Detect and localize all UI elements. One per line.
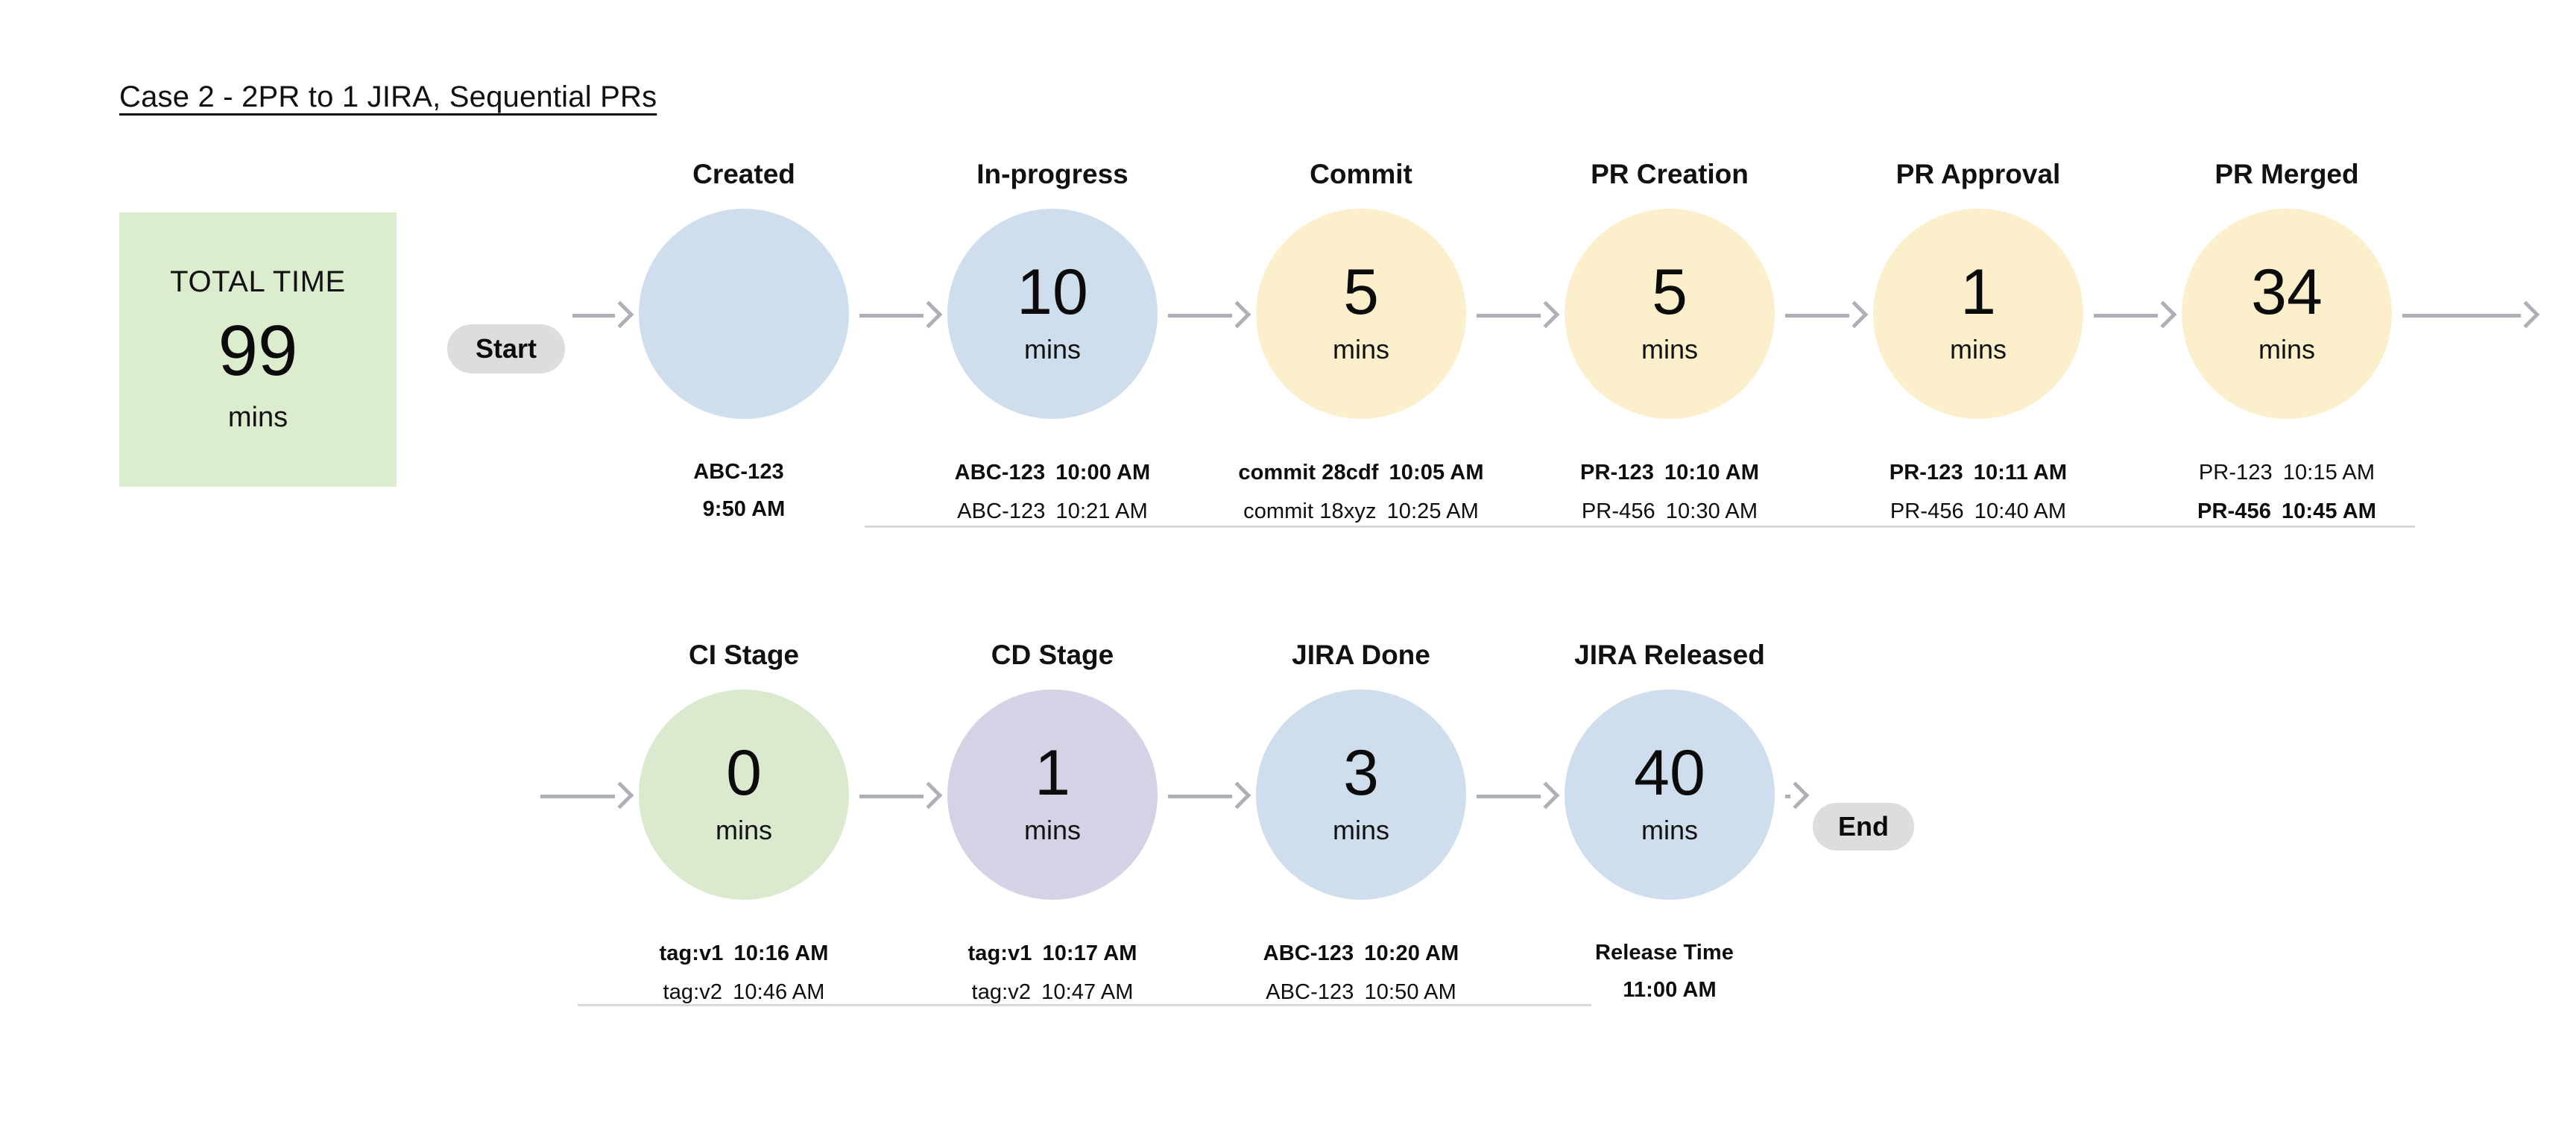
node-in-progress-entry-1-ref: ABC-123	[955, 461, 1046, 485]
node-ci-stage-entry-2-time: 10:46 AM	[733, 980, 824, 1004]
node-cd-stage-entry-1-time: 10:17 AM	[1042, 941, 1137, 965]
node-created-entry-2-time: 9:50 AM	[703, 497, 786, 521]
node-in-progress-entry-2-ref: ABC-123	[957, 499, 1045, 523]
node-ci-stage[interactable]: CI Stage0minstag:v110:16 AMtag:v210:46 A…	[587, 637, 900, 1012]
node-in-progress-entries: ABC-12310:00 AMABC-12310:21 AM	[896, 453, 1209, 531]
node-jira-done-entry-1-time: 10:20 AM	[1364, 941, 1459, 965]
node-commit-entry-1-time: 10:05 AM	[1389, 461, 1484, 485]
node-commit-entry-2-ref: commit 18xyz	[1243, 499, 1376, 523]
node-jira-released[interactable]: JIRA Released40minsRelease Time11:00 AM	[1513, 637, 1826, 1009]
node-ci-stage-entries: tag:v110:16 AMtag:v210:46 AM	[587, 934, 900, 1012]
node-jira-released-unit: mins	[1641, 815, 1698, 846]
node-jira-done-title: JIRA Done	[1292, 637, 1430, 673]
node-pr-approval-entry-1-time: 10:11 AM	[1974, 461, 2067, 485]
node-created-entry-2: 9:50 AM	[703, 490, 786, 528]
connector-3-line	[1477, 795, 1541, 798]
node-pr-approval-circle[interactable]: 1mins	[1873, 209, 2083, 419]
node-cd-stage-entry-1-ref: tag:v1	[967, 941, 1032, 965]
node-pr-merged-unit: mins	[2258, 334, 2315, 365]
node-jira-done-entry-1: ABC-12310:20 AM	[1263, 934, 1459, 973]
connector-4-line	[1785, 314, 1849, 318]
node-ci-stage-value: 0	[726, 743, 762, 804]
connector-row-begin-line	[540, 795, 615, 798]
node-pr-merged[interactable]: PR Merged34minsPR-12310:15 AMPR-45610:45…	[2130, 157, 2443, 531]
connector-3-line	[1477, 314, 1541, 318]
node-cd-stage-value: 1	[1035, 743, 1070, 804]
node-pr-merged-entry-2-time: 10:45 AM	[2282, 499, 2376, 523]
node-pr-creation-entry-2-ref: PR-456	[1582, 499, 1655, 523]
node-commit[interactable]: Commit5minscommit 28cdf10:05 AMcommit 18…	[1205, 157, 1518, 531]
node-pr-creation-entry-2-time: 10:30 AM	[1666, 499, 1758, 523]
total-time-unit: mins	[228, 402, 288, 434]
node-pr-merged-value: 34	[2251, 262, 2323, 324]
total-time-card: TOTAL TIME 99 mins	[119, 212, 397, 487]
node-jira-done[interactable]: JIRA Done3minsABC-12310:20 AMABC-12310:5…	[1205, 637, 1518, 1012]
node-pr-creation-unit: mins	[1641, 334, 1698, 365]
node-pr-approval-value: 1	[1960, 262, 1996, 324]
connector-5-line	[2094, 314, 2158, 318]
node-pr-approval-entry-2: PR-45610:40 AM	[1890, 492, 2066, 531]
node-ci-stage-title: CI Stage	[689, 637, 799, 673]
node-in-progress-entry-1-time: 10:00 AM	[1055, 461, 1150, 485]
node-cd-stage-entry-2-ref: tag:v2	[972, 980, 1032, 1004]
node-pr-creation-entry-1: PR-12310:10 AM	[1580, 453, 1759, 492]
node-jira-released-entries: Release Time11:00 AM	[1513, 934, 1826, 1009]
node-pr-merged-entry-2: PR-45610:45 AM	[2197, 492, 2376, 531]
node-pr-approval-title: PR Approval	[1896, 157, 2061, 192]
node-in-progress-value: 10	[1017, 262, 1088, 324]
node-commit-circle[interactable]: 5mins	[1256, 209, 1466, 419]
node-created-entry-1: ABC-123	[693, 453, 795, 490]
node-ci-stage-entry-1-time: 10:16 AM	[733, 941, 828, 965]
node-cd-stage-title: CD Stage	[991, 637, 1114, 673]
node-cd-stage-entry-1: tag:v110:17 AM	[967, 934, 1137, 973]
node-pr-merged-circle[interactable]: 34mins	[2182, 209, 2392, 419]
total-time-value: 99	[218, 314, 298, 389]
node-cd-stage-entry-2-time: 10:47 AM	[1041, 980, 1133, 1004]
node-pr-approval-unit: mins	[1950, 334, 2007, 365]
node-pr-creation-entries: PR-12310:10 AMPR-45610:30 AM	[1513, 453, 1826, 531]
node-jira-done-entry-2: ABC-12310:50 AM	[1266, 973, 1456, 1012]
node-created-circle[interactable]	[639, 209, 849, 419]
diagram-canvas: Case 2 - 2PR to 1 JIRA, Sequential PRs T…	[0, 0, 2576, 1139]
end-marker[interactable]: End	[1813, 803, 1914, 851]
node-cd-stage[interactable]: CD Stage1minstag:v110:17 AMtag:v210:47 A…	[896, 637, 1209, 1012]
node-jira-released-circle[interactable]: 40mins	[1565, 690, 1775, 900]
node-cd-stage-entries: tag:v110:17 AMtag:v210:47 AM	[896, 934, 1209, 1012]
node-jira-done-entries: ABC-12310:20 AMABC-12310:50 AM	[1205, 934, 1518, 1012]
connector-1-line	[859, 795, 924, 798]
node-jira-done-entry-2-time: 10:50 AM	[1365, 980, 1456, 1004]
node-pr-merged-entry-1-ref: PR-123	[2199, 461, 2273, 485]
node-created-entries: ABC-1239:50 AM	[587, 453, 900, 528]
node-pr-approval-entries: PR-12310:11 AMPR-45610:40 AM	[1822, 453, 2135, 531]
start-marker[interactable]: Start	[447, 324, 565, 373]
node-pr-approval[interactable]: PR Approval1minsPR-12310:11 AMPR-45610:4…	[1822, 157, 2135, 531]
node-in-progress-entry-1: ABC-12310:00 AM	[955, 453, 1151, 492]
node-jira-done-entry-1-ref: ABC-123	[1263, 941, 1354, 965]
node-commit-entry-1-ref: commit 28cdf	[1238, 461, 1378, 485]
node-jira-released-entry-1: Release Time	[1595, 934, 1744, 971]
connector-2-line	[1168, 314, 1232, 318]
node-pr-creation-entry-2: PR-45610:30 AM	[1582, 492, 1758, 531]
node-pr-creation-value: 5	[1652, 262, 1688, 324]
node-jira-done-unit: mins	[1333, 815, 1389, 846]
node-created-entry-1-ref: ABC-123	[693, 460, 784, 484]
node-pr-approval-entry-1: PR-12310:11 AM	[1890, 453, 2067, 492]
total-time-label: TOTAL TIME	[170, 265, 346, 299]
node-pr-creation-entry-1-time: 10:10 AM	[1664, 461, 1759, 485]
node-ci-stage-circle[interactable]: 0mins	[639, 690, 849, 900]
node-jira-released-entry-2-time: 11:00 AM	[1623, 978, 1716, 1002]
node-jira-done-entry-2-ref: ABC-123	[1266, 980, 1354, 1004]
connector-row-end-arrow-icon	[2513, 301, 2540, 329]
node-pr-creation[interactable]: PR Creation5minsPR-12310:10 AMPR-45610:3…	[1513, 157, 1826, 531]
node-pr-approval-entry-1-ref: PR-123	[1890, 461, 1963, 485]
node-commit-entries: commit 28cdf10:05 AMcommit 18xyz10:25 AM	[1205, 453, 1518, 531]
node-pr-creation-circle[interactable]: 5mins	[1565, 209, 1775, 419]
page-title: Case 2 - 2PR to 1 JIRA, Sequential PRs	[119, 81, 657, 114]
node-in-progress-circle[interactable]: 10mins	[947, 209, 1158, 419]
node-created[interactable]: CreatedABC-1239:50 AM	[587, 157, 900, 528]
node-jira-released-value: 40	[1634, 743, 1705, 804]
node-created-title: Created	[692, 157, 795, 192]
node-ci-stage-unit: mins	[716, 815, 772, 846]
node-pr-merged-entry-1-time: 10:15 AM	[2283, 461, 2375, 485]
node-commit-entry-1: commit 28cdf10:05 AM	[1238, 453, 1483, 492]
node-commit-entry-2: commit 18xyz10:25 AM	[1243, 492, 1479, 531]
node-in-progress-entry-2: ABC-12310:21 AM	[957, 492, 1148, 531]
node-in-progress[interactable]: In-progress10minsABC-12310:00 AMABC-1231…	[896, 157, 1209, 531]
node-cd-stage-entry-2: tag:v210:47 AM	[972, 973, 1134, 1012]
node-jira-released-entry-2: 11:00 AM	[1623, 971, 1716, 1009]
node-in-progress-title: In-progress	[976, 157, 1128, 192]
node-pr-merged-entries: PR-12310:15 AMPR-45610:45 AM	[2130, 453, 2443, 531]
node-ci-stage-entry-1-ref: tag:v1	[659, 941, 723, 965]
node-pr-creation-entry-1-ref: PR-123	[1580, 461, 1654, 485]
node-jira-released-title: JIRA Released	[1574, 637, 1765, 673]
node-ci-stage-entry-2: tag:v210:46 AM	[663, 973, 825, 1012]
connector-2-line	[1168, 795, 1232, 798]
node-commit-title: Commit	[1310, 157, 1412, 192]
node-jira-released-entry-1-ref: Release Time	[1595, 941, 1734, 965]
node-pr-merged-title: PR Merged	[2214, 157, 2358, 192]
node-jira-done-value: 3	[1343, 743, 1379, 804]
node-jira-done-circle[interactable]: 3mins	[1256, 690, 1466, 900]
node-in-progress-entry-2-time: 10:21 AM	[1056, 499, 1148, 523]
node-ci-stage-entry-1: tag:v110:16 AM	[659, 934, 828, 973]
node-pr-approval-entry-2-ref: PR-456	[1890, 499, 1964, 523]
node-pr-creation-title: PR Creation	[1591, 157, 1749, 192]
node-pr-approval-entry-2-time: 10:40 AM	[1974, 499, 2066, 523]
node-cd-stage-circle[interactable]: 1mins	[947, 690, 1158, 900]
connector-1-line	[859, 314, 924, 318]
node-commit-value: 5	[1343, 262, 1379, 324]
node-in-progress-unit: mins	[1024, 334, 1081, 365]
node-ci-stage-entry-2-ref: tag:v2	[663, 980, 723, 1004]
node-cd-stage-unit: mins	[1024, 815, 1081, 846]
node-pr-merged-entry-1: PR-12310:15 AM	[2199, 453, 2375, 492]
node-commit-unit: mins	[1333, 334, 1389, 365]
connector-row-end-line	[2402, 314, 2521, 318]
node-pr-merged-entry-2-ref: PR-456	[2197, 499, 2271, 523]
node-commit-entry-2-time: 10:25 AM	[1387, 499, 1479, 523]
